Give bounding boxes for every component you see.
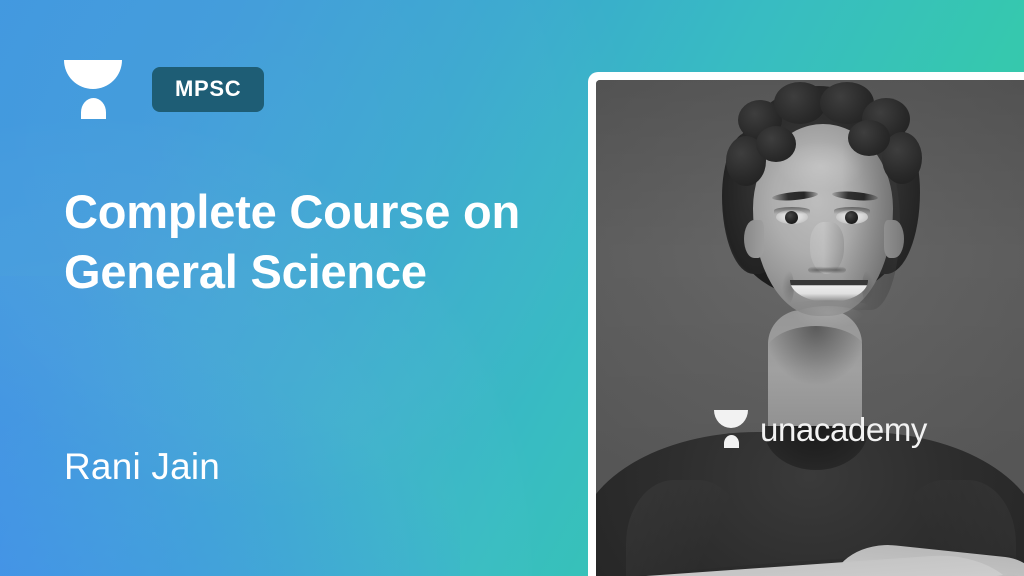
portrait-eyelid-right [834, 207, 870, 214]
course-title-line-1: Complete Course on [64, 182, 574, 242]
portrait-hair-curl [774, 82, 826, 124]
instructor-photo-card: unacademy [588, 72, 1024, 576]
tshirt-unacademy-logo: unacademy [714, 410, 927, 448]
course-title: Complete Course on General Science [64, 182, 574, 302]
logo-bowl-shape [64, 60, 122, 89]
course-info-panel: MPSC Complete Course on General Science … [0, 0, 600, 576]
portrait-hair-curl [756, 126, 796, 162]
unacademy-bowl-logo-icon [714, 410, 748, 448]
portrait-ear-right [884, 220, 904, 258]
brand-row: MPSC [64, 58, 264, 120]
portrait-tshirt-fold-left [626, 480, 746, 576]
portrait-eyelid-left [774, 207, 810, 214]
course-thumbnail-card: MPSC Complete Course on General Science … [0, 0, 1024, 576]
unacademy-bowl-logo-icon [64, 58, 122, 120]
portrait-nostrils [808, 264, 846, 276]
course-title-line-2: General Science [64, 242, 574, 302]
portrait-hair-curl [848, 120, 890, 156]
category-badge[interactable]: MPSC [152, 67, 264, 112]
instructor-portrait: unacademy [596, 80, 1024, 576]
instructor-name: Rani Jain [64, 445, 220, 489]
portrait-neck-shadow [764, 326, 868, 386]
portrait-ear-left [744, 220, 764, 258]
portrait-chin [792, 306, 864, 328]
logo-bowl-shape [714, 410, 748, 428]
logo-foot-shape [724, 435, 739, 448]
unacademy-wordmark: unacademy [760, 413, 927, 446]
logo-foot-shape [81, 98, 106, 119]
